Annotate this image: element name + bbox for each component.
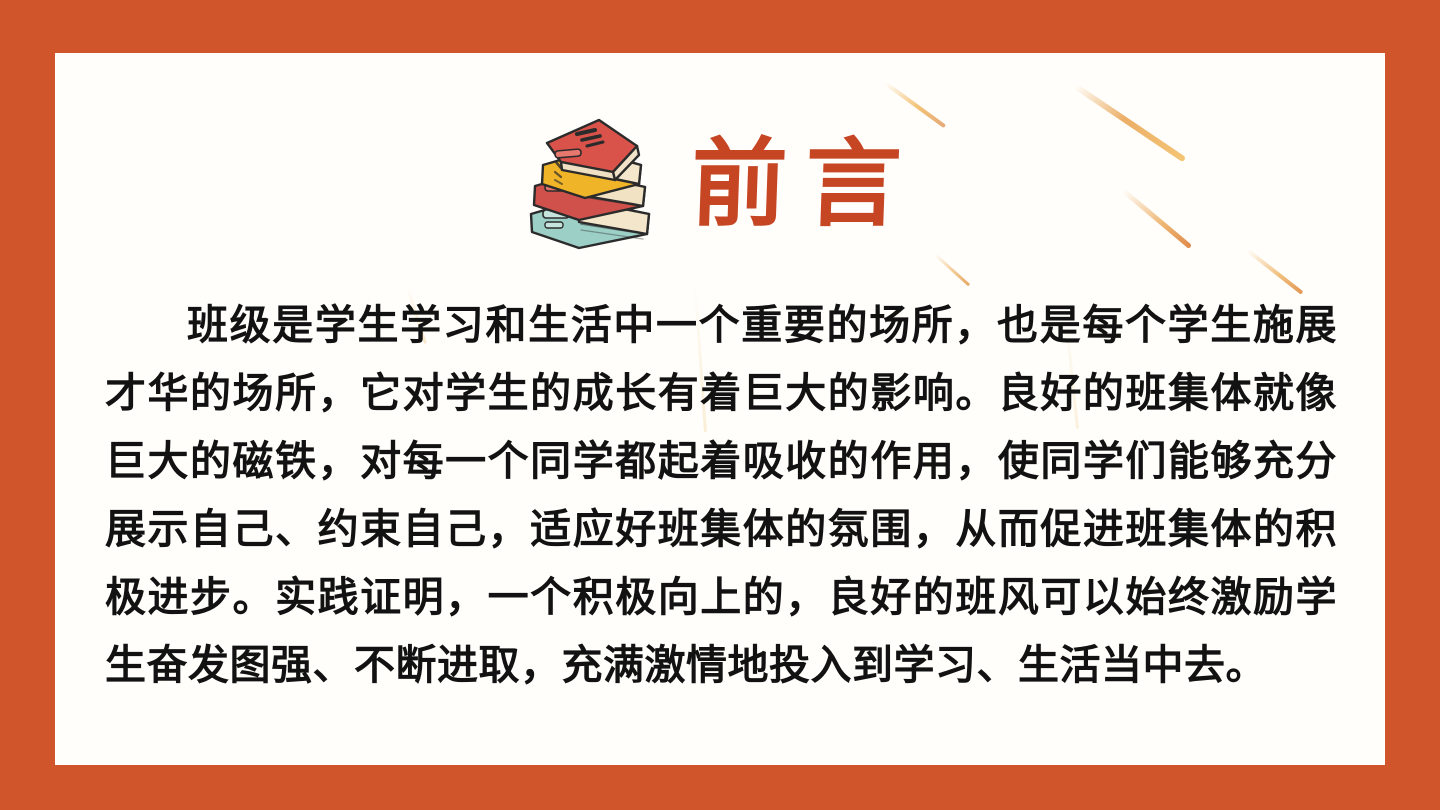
slide-preface: 前言 班级是学生学习和生活中一个重要的场所，也是每个学生施展才华的场所，它对学生…	[0, 0, 1440, 810]
stacked-books-icon	[521, 110, 657, 260]
preface-body-text: 班级是学生学习和生活中一个重要的场所，也是每个学生施展才华的场所，它对学生的成长…	[105, 291, 1337, 699]
slide-header: 前言	[55, 105, 1385, 265]
page-title: 前言	[681, 137, 920, 233]
slide-inner-panel: 前言 班级是学生学习和生活中一个重要的场所，也是每个学生施展才华的场所，它对学生…	[55, 53, 1385, 765]
preface-paragraph: 班级是学生学习和生活中一个重要的场所，也是每个学生施展才华的场所，它对学生的成长…	[105, 291, 1337, 699]
